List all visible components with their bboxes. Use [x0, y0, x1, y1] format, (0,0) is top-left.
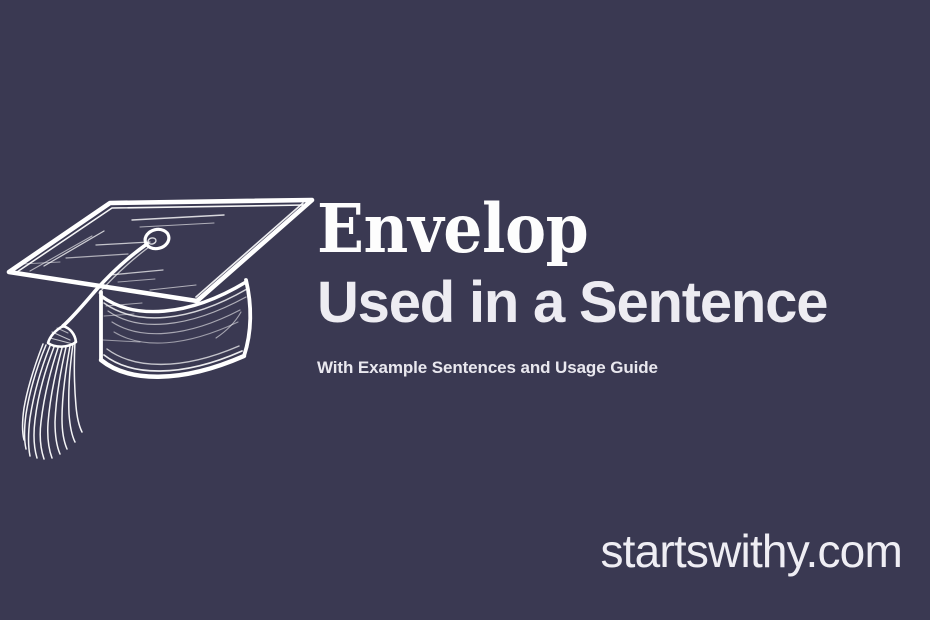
banner-card: Envelop Used in a Sentence With Example … — [0, 0, 930, 620]
tagline: With Example Sentences and Usage Guide — [317, 335, 917, 379]
headline: Used in a Sentence — [317, 265, 917, 335]
page-title-word: Envelop — [317, 193, 869, 265]
site-brand: startswithy.com — [0, 523, 902, 579]
text-block: Envelop Used in a Sentence With Example … — [317, 193, 917, 379]
graduation-cap-illustration — [0, 170, 320, 460]
